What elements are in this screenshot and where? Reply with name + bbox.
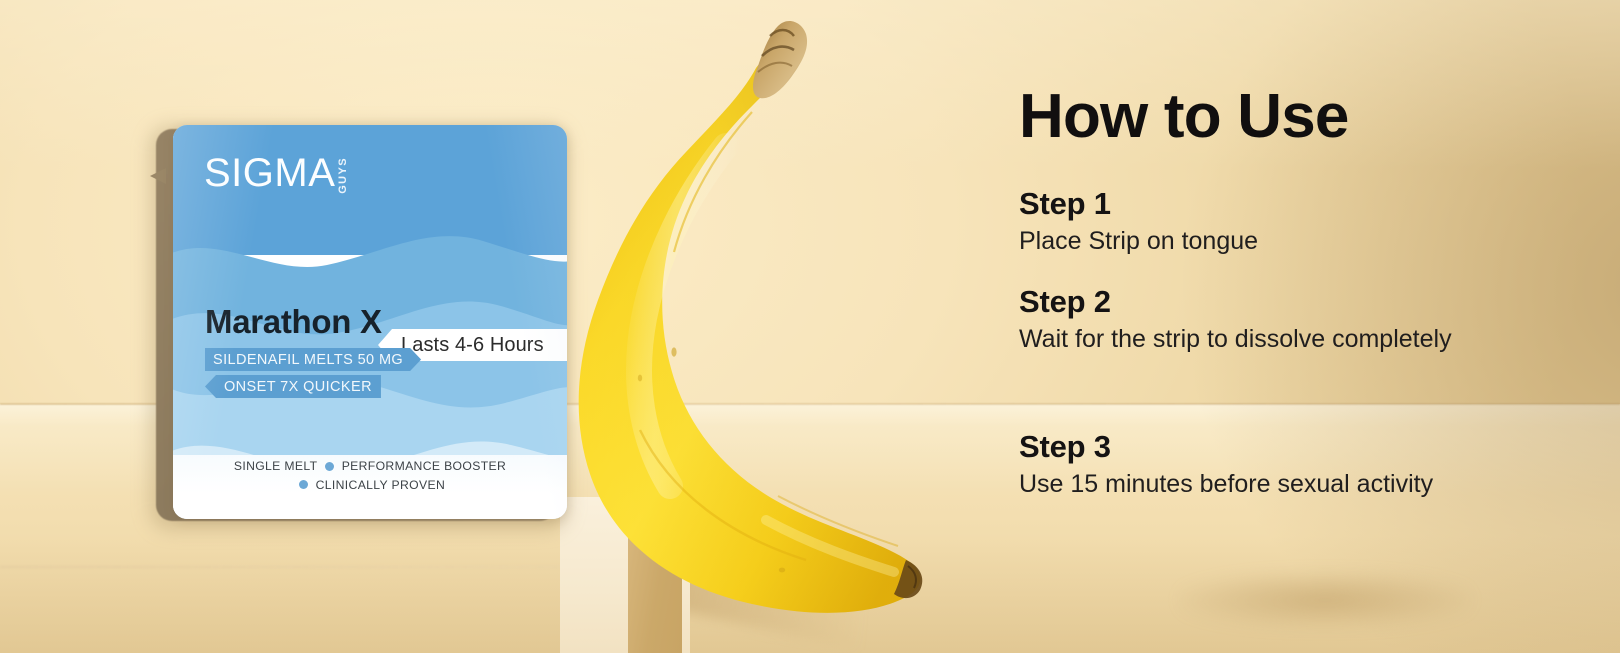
bullet-dot-icon bbox=[299, 480, 308, 489]
claim-clinically-proven: CLINICALLY PROVEN bbox=[316, 478, 445, 492]
step-item-2: Step 2 Wait for the strip to dissolve co… bbox=[1019, 284, 1452, 356]
onset-tag: ONSET 7X QUICKER bbox=[205, 375, 381, 398]
claim-performance-booster: PERFORMANCE BOOSTER bbox=[342, 459, 506, 473]
step-3-body: Use 15 minutes before sexual activity bbox=[1019, 468, 1433, 501]
product-sachet[interactable]: SIGMA GUYS Lasts 4-6 Hours Marathon X SI… bbox=[173, 125, 567, 519]
instructions-panel: How to Use Step 1 Place Strip on tongue … bbox=[1019, 86, 1489, 148]
bullet-dot-icon bbox=[325, 462, 334, 471]
brand-suffix: GUYS bbox=[337, 157, 349, 194]
step-item-1: Step 1 Place Strip on tongue bbox=[1019, 186, 1258, 258]
step-2-body: Wait for the strip to dissolve completel… bbox=[1019, 323, 1452, 356]
how-to-use-banner: SIGMA GUYS Lasts 4-6 Hours Marathon X SI… bbox=[0, 0, 1620, 653]
brand-lockup: SIGMA GUYS bbox=[204, 153, 349, 194]
step-2-title: Step 2 bbox=[1019, 284, 1452, 320]
banana-illustration bbox=[520, 0, 960, 653]
brand-name: SIGMA bbox=[204, 153, 335, 193]
banana-svg bbox=[520, 0, 960, 653]
banana-floor-shadow bbox=[1180, 572, 1470, 628]
step-1-title: Step 1 bbox=[1019, 186, 1258, 222]
step-3-title: Step 3 bbox=[1019, 429, 1433, 465]
dosage-tag: SILDENAFIL MELTS 50 MG bbox=[205, 348, 421, 371]
step-1-body: Place Strip on tongue bbox=[1019, 225, 1258, 258]
step-item-3: Step 3 Use 15 minutes before sexual acti… bbox=[1019, 429, 1433, 501]
product-name: Marathon X bbox=[205, 303, 382, 341]
page-title: How to Use bbox=[1019, 86, 1489, 148]
claims-footer-line2: CLINICALLY PROVEN bbox=[173, 477, 567, 495]
claim-single-melt: SINGLE MELT bbox=[234, 459, 317, 473]
claims-footer-line1: SINGLE MELT PERFORMANCE BOOSTER bbox=[173, 458, 567, 476]
claims-footer: SINGLE MELT PERFORMANCE BOOSTER CLINICAL… bbox=[173, 458, 567, 494]
